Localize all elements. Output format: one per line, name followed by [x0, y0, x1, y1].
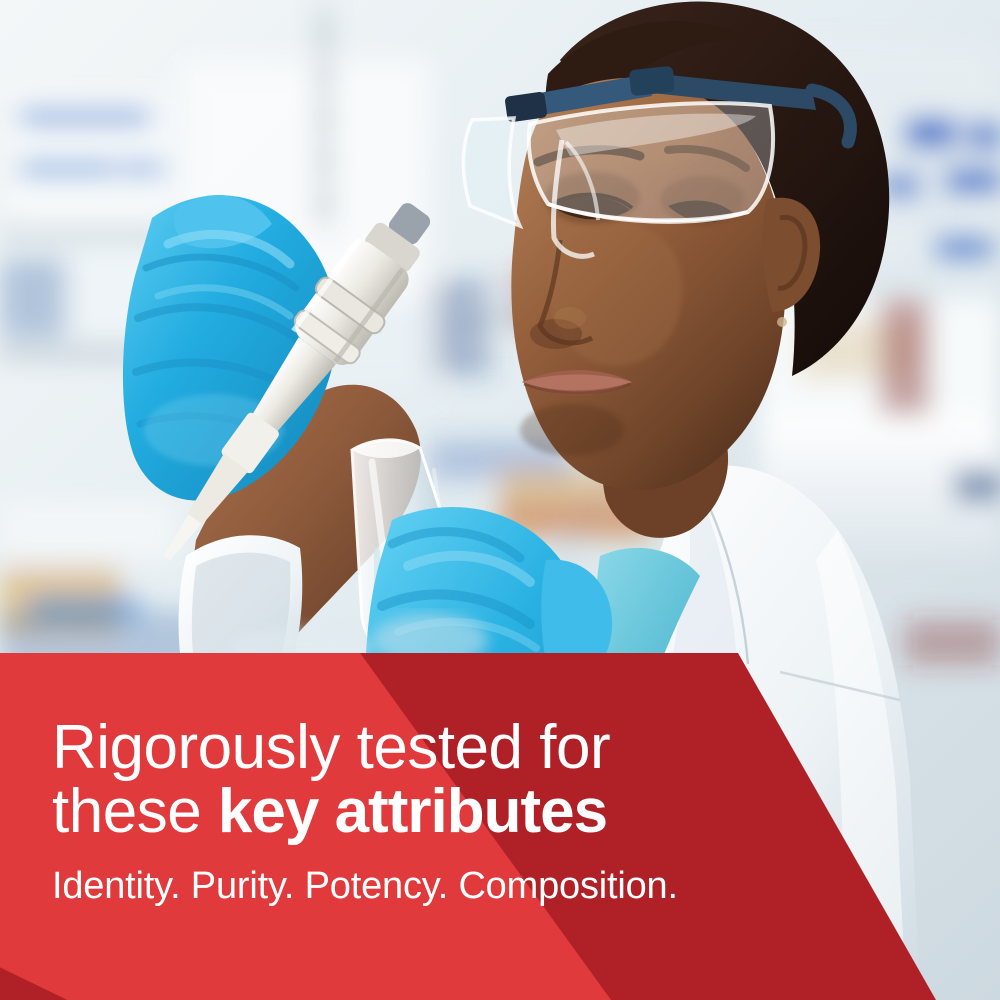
headline-line-2-light: these	[52, 777, 218, 846]
headline-line-2: these key attributes	[52, 782, 752, 842]
headline: Rigorously tested for these key attribut…	[52, 718, 752, 841]
banner-copy: Rigorously tested for these key attribut…	[52, 718, 752, 907]
promotional-banner-image: Rigorously tested for these key attribut…	[0, 0, 1000, 1000]
headline-line-2-bold: key attributes	[218, 777, 607, 846]
subheadline: Identity. Purity. Potency. Composition.	[52, 867, 752, 907]
headline-line-1: Rigorously tested for	[52, 718, 752, 778]
